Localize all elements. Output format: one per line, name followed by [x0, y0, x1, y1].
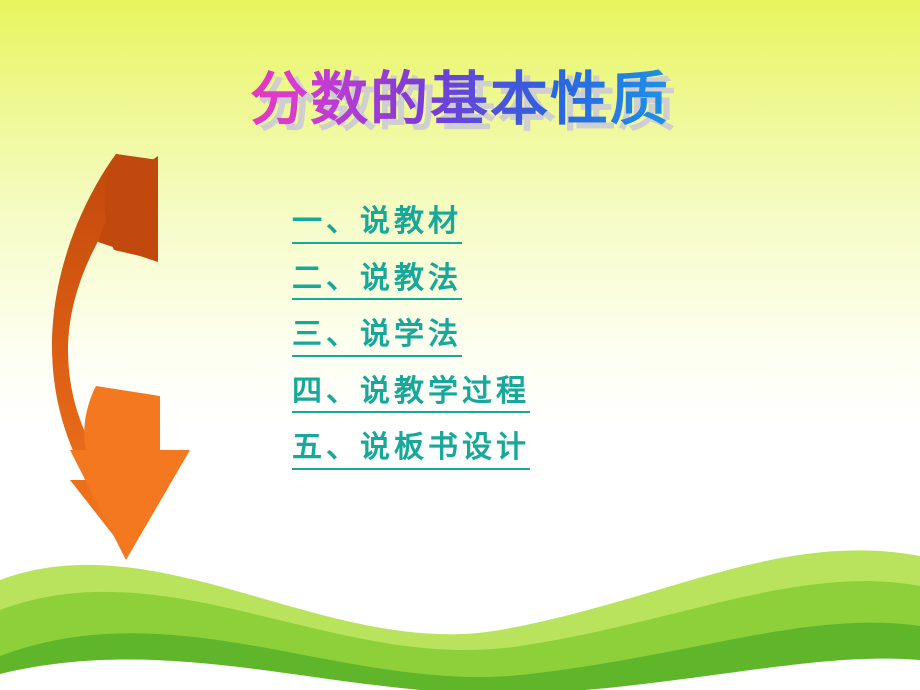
agenda-item-2[interactable]: 二、说教法	[292, 262, 462, 301]
list-item[interactable]: 一、说教材	[292, 205, 772, 262]
presentation-slide: 分数的基本性质 分数的基本性质 一、说教材 二、说教法 三、说学法 四、	[0, 0, 920, 690]
agenda-list: 一、说教材 二、说教法 三、说学法 四、说教学过程 五、说板书设计	[292, 205, 772, 488]
page-title-shadow: 分数的基本性质	[8, 58, 920, 142]
page-title: 分数的基本性质	[0, 52, 920, 136]
list-item[interactable]: 三、说学法	[292, 318, 772, 375]
curved-arrow-icon	[40, 150, 230, 560]
agenda-item-3[interactable]: 三、说学法	[292, 318, 462, 357]
list-item[interactable]: 二、说教法	[292, 262, 772, 319]
agenda-item-1[interactable]: 一、说教材	[292, 205, 462, 244]
agenda-item-4[interactable]: 四、说教学过程	[292, 375, 530, 414]
list-item[interactable]: 五、说板书设计	[292, 431, 772, 488]
list-item[interactable]: 四、说教学过程	[292, 375, 772, 432]
agenda-item-5[interactable]: 五、说板书设计	[292, 431, 530, 470]
